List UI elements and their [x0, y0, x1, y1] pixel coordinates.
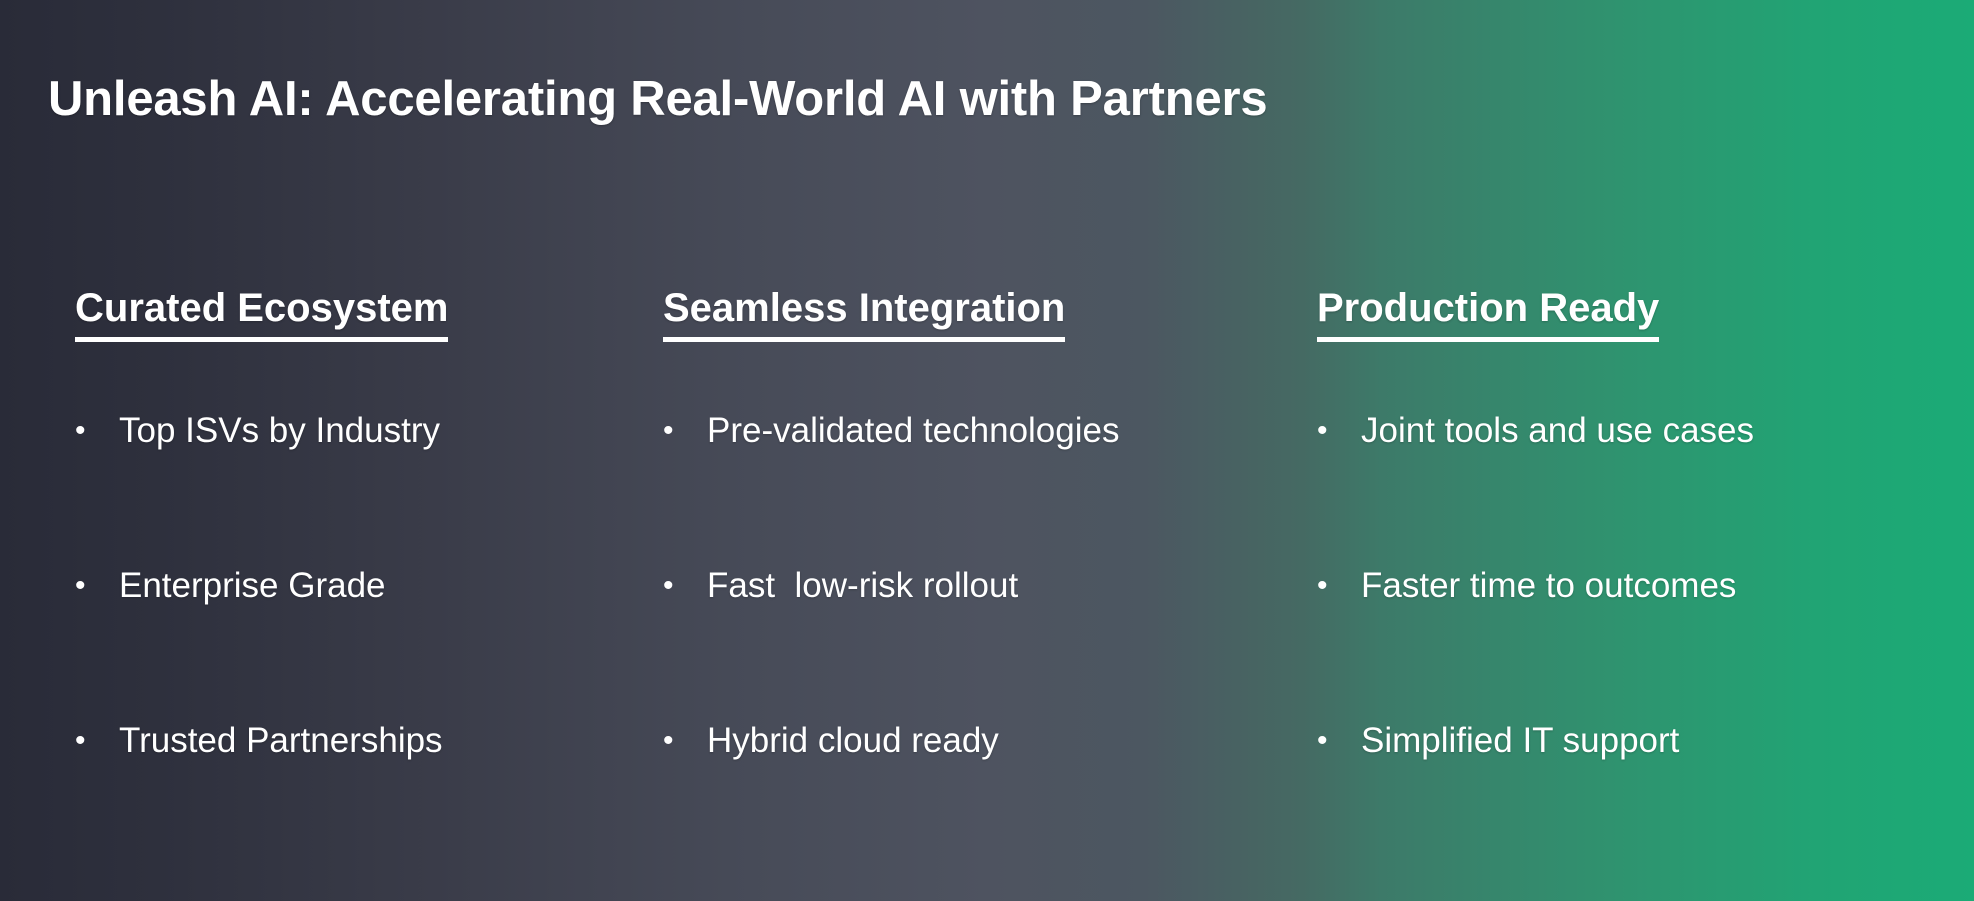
- bullet-list-seamless-integration: • Pre-validated technologies • Fast low-…: [645, 414, 1295, 879]
- bullet-point-icon: •: [1317, 414, 1361, 448]
- list-item-label: Simplified IT support: [1361, 724, 1974, 758]
- list-item-label: Top ISVs by Industry: [119, 414, 645, 448]
- list-item-label: Fast low-risk rollout: [707, 569, 1295, 603]
- list-item: • Hybrid cloud ready: [663, 724, 1295, 879]
- list-item: • Joint tools and use cases: [1317, 414, 1974, 569]
- columns-container: Curated Ecosystem • Top ISVs by Industry…: [0, 286, 1974, 846]
- list-item-label: Joint tools and use cases: [1361, 414, 1974, 448]
- list-item: • Enterprise Grade: [75, 569, 645, 724]
- bullet-point-icon: •: [1317, 569, 1361, 603]
- bullet-list-production-ready: • Joint tools and use cases • Faster tim…: [1295, 414, 1974, 879]
- bullet-point-icon: •: [663, 569, 707, 603]
- bullet-point-icon: •: [663, 414, 707, 448]
- list-item: • Top ISVs by Industry: [75, 414, 645, 569]
- column-curated-ecosystem: Curated Ecosystem • Top ISVs by Industry…: [0, 286, 645, 846]
- bullet-point-icon: •: [75, 724, 119, 758]
- presentation-slide: Unleash AI: Accelerating Real-World AI w…: [0, 0, 1974, 901]
- list-item: • Fast low-risk rollout: [663, 569, 1295, 724]
- column-seamless-integration: Seamless Integration • Pre-validated tec…: [645, 286, 1295, 846]
- column-heading-seamless-integration: Seamless Integration: [663, 286, 1065, 342]
- bullet-point-icon: •: [1317, 724, 1361, 758]
- list-item-label: Faster time to outcomes: [1361, 569, 1974, 603]
- column-production-ready: Production Ready • Joint tools and use c…: [1295, 286, 1974, 846]
- list-item-label: Enterprise Grade: [119, 569, 645, 603]
- list-item: • Trusted Partnerships: [75, 724, 645, 879]
- list-item: • Simplified IT support: [1317, 724, 1974, 879]
- bullet-point-icon: •: [75, 414, 119, 448]
- list-item: • Pre-validated technologies: [663, 414, 1295, 569]
- list-item-label: Trusted Partnerships: [119, 724, 645, 758]
- bullet-point-icon: •: [663, 724, 707, 758]
- column-heading-production-ready: Production Ready: [1317, 286, 1659, 342]
- bullet-list-curated-ecosystem: • Top ISVs by Industry • Enterprise Grad…: [0, 414, 645, 879]
- bullet-point-icon: •: [75, 569, 119, 603]
- page-title: Unleash AI: Accelerating Real-World AI w…: [48, 71, 1267, 127]
- column-heading-curated-ecosystem: Curated Ecosystem: [75, 286, 448, 342]
- list-item: • Faster time to outcomes: [1317, 569, 1974, 724]
- list-item-label: Pre-validated technologies: [707, 414, 1295, 448]
- list-item-label: Hybrid cloud ready: [707, 724, 1295, 758]
